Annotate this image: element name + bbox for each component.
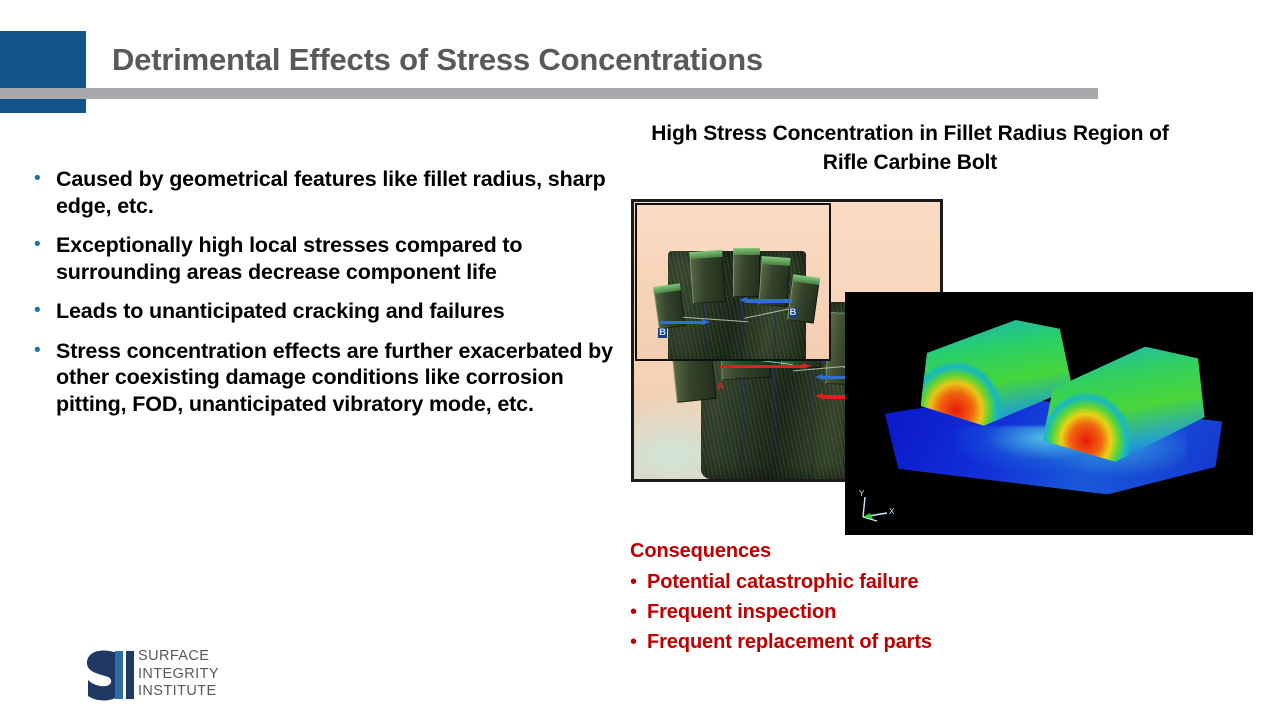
inset-bolt-lug: [733, 248, 760, 297]
inset-bolt-lug: [689, 250, 725, 304]
svg-text:X: X: [889, 507, 895, 516]
bullet-dot-icon: •: [630, 600, 647, 624]
inset-crack-arrow-b-right: [739, 297, 793, 304]
list-item: • Frequent inspection: [630, 600, 1150, 624]
bullet-dot-icon: •: [630, 630, 647, 654]
logo-line-2: INTEGRITY: [138, 666, 219, 684]
coordinate-axes-icon: Y X: [857, 487, 909, 523]
header-blue-accent-box: [0, 31, 86, 113]
logo-wordmark: SURFACE INTEGRITY INSTITUTE: [138, 648, 219, 701]
header-gray-rule: [0, 88, 1098, 99]
bullet-list: • Caused by geometrical features like fi…: [34, 166, 614, 430]
logo-line-1: SURFACE: [138, 648, 219, 666]
photo-magnified-inset: B B: [635, 203, 831, 361]
consequence-text: Frequent replacement of parts: [647, 630, 1150, 654]
slide-canvas: Detrimental Effects of Stress Concentrat…: [0, 0, 1280, 720]
page-title: Detrimental Effects of Stress Concentrat…: [112, 40, 1092, 80]
list-item: • Leads to unanticipated cracking and fa…: [34, 298, 614, 325]
crack-arrow-label-a: A: [717, 382, 724, 392]
bullet-text: Stress concentration effects are further…: [56, 338, 614, 418]
consequences-block: Consequences • Potential catastrophic fa…: [630, 538, 1150, 654]
bullet-text: Caused by geometrical features like fill…: [56, 166, 614, 219]
crack-arrow-a: [720, 363, 812, 370]
inset-crack-arrow-label-b-right: B: [789, 308, 798, 318]
list-item: • Frequent replacement of parts: [630, 630, 1150, 654]
bullet-text: Exceptionally high local stresses compar…: [56, 232, 614, 285]
svg-text:Y: Y: [859, 489, 865, 498]
figure-heading: High Stress Concentration in Fillet Radi…: [648, 119, 1172, 177]
inset-crack-arrow-b-left: [660, 319, 710, 326]
bullet-dot-icon: •: [34, 338, 56, 356]
bullet-dot-icon: •: [34, 166, 56, 184]
organization-logo: SURFACE INTEGRITY INSTITUTE: [84, 646, 254, 708]
list-item: • Exceptionally high local stresses comp…: [34, 232, 614, 285]
fea-stress-contour-image: Y X: [845, 292, 1253, 535]
logo-line-3: INSTITUTE: [138, 683, 219, 701]
bullet-dot-icon: •: [630, 570, 647, 594]
fea-model: [878, 316, 1237, 506]
list-item: • Caused by geometrical features like fi…: [34, 166, 614, 219]
consequence-text: Potential catastrophic failure: [647, 570, 1150, 594]
bullet-text: Leads to unanticipated cracking and fail…: [56, 298, 614, 325]
bullet-dot-icon: •: [34, 298, 56, 316]
consequence-text: Frequent inspection: [647, 600, 1150, 624]
si-monogram-icon: [84, 646, 140, 704]
consequences-title: Consequences: [630, 538, 1150, 564]
bullet-dot-icon: •: [34, 232, 56, 250]
inset-crack-arrow-label-b-left: B: [658, 328, 667, 338]
list-item: • Stress concentration effects are furth…: [34, 338, 614, 418]
list-item: • Potential catastrophic failure: [630, 570, 1150, 594]
